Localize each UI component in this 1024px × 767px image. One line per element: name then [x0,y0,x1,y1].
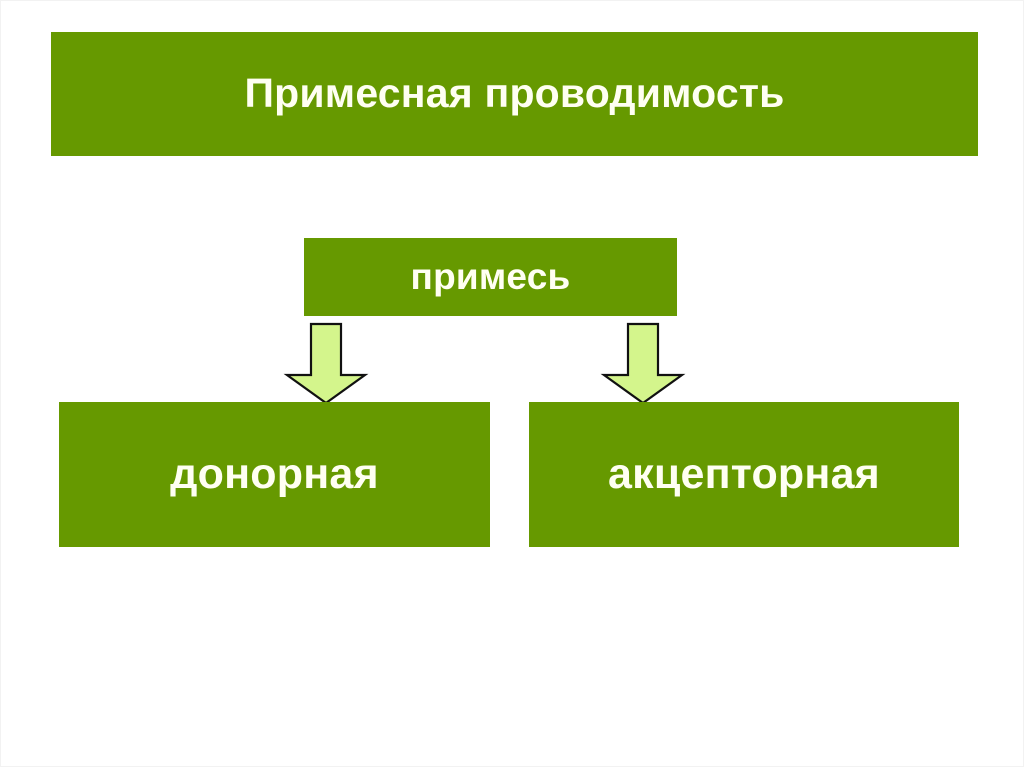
arrow-down-icon [286,323,366,405]
source-label: примесь [411,258,571,297]
title-label: Примесная проводимость [244,72,784,115]
source-box-primes: примесь [304,238,677,316]
branch-label-akceptornaya: акцепторная [608,452,880,497]
arrow-down-icon [603,323,683,405]
arrow-down-icon-shape [286,323,366,405]
arrow-down-icon-shape [603,323,683,405]
slide-canvas: Примесная проводимость примесь донорная … [0,0,1024,767]
title-box: Примесная проводимость [51,32,978,156]
branch-box-donornaya: донорная [59,402,490,547]
branch-box-akceptornaya: акцепторная [529,402,959,547]
branch-label-donornaya: донорная [170,452,379,497]
